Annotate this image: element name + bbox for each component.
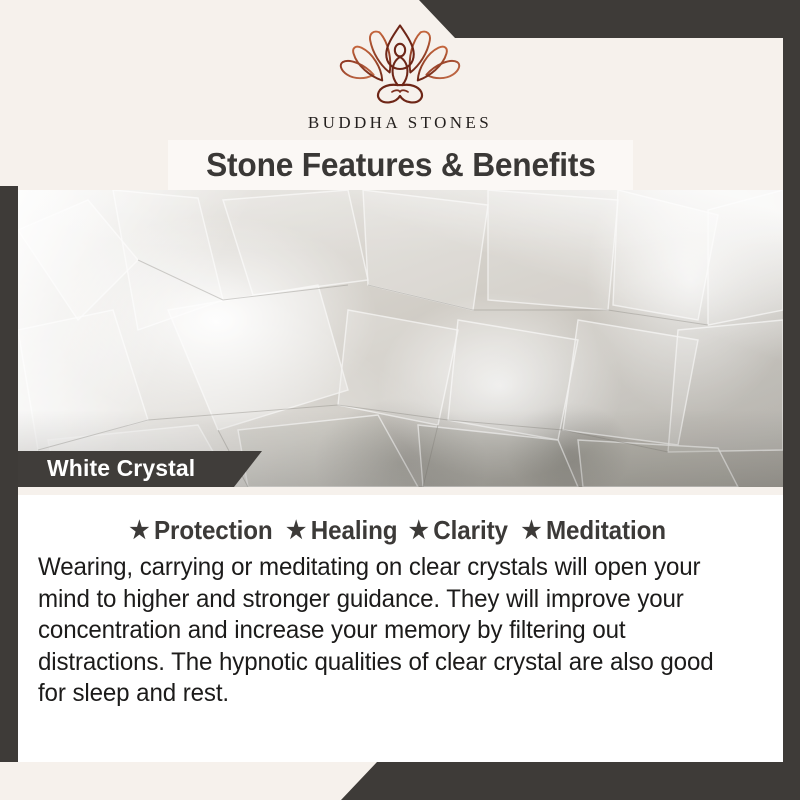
benefit-label: Clarity xyxy=(434,515,509,546)
hero-caption-banner: White Crystal xyxy=(18,451,262,487)
description-paragraph: Wearing, carrying or meditating on clear… xyxy=(38,552,732,710)
brand-name: BUDDHA STONES xyxy=(308,114,492,131)
card-content: BUDDHA STONES Stone Features & Benefits xyxy=(0,0,800,800)
benefit-label: Protection xyxy=(154,515,273,546)
benefit-item-meditation: ★ Meditation xyxy=(521,515,666,546)
page-title: Stone Features & Benefits xyxy=(206,146,596,184)
body-panel: ★ Protection ★ Healing ★ Clarity ★ Medit… xyxy=(18,495,783,762)
benefit-label: Meditation xyxy=(546,515,666,546)
benefit-label: Healing xyxy=(310,515,397,546)
left-frame-rail xyxy=(0,186,18,762)
star-icon: ★ xyxy=(409,519,429,543)
title-plaque: Stone Features & Benefits xyxy=(168,140,633,190)
star-icon: ★ xyxy=(521,519,541,543)
star-icon: ★ xyxy=(129,519,149,543)
hero-image xyxy=(18,190,783,487)
hero-caption-text: White Crystal xyxy=(18,457,195,480)
infographic-card: BUDDHA STONES Stone Features & Benefits xyxy=(0,0,800,800)
lotus-meditation-figure-icon xyxy=(334,22,466,108)
brand-header: BUDDHA STONES xyxy=(0,0,800,150)
star-icon: ★ xyxy=(286,519,306,543)
benefit-item-protection: ★ Protection xyxy=(129,515,272,546)
benefit-item-clarity: ★ Clarity xyxy=(409,515,508,546)
benefits-row: ★ Protection ★ Healing ★ Clarity ★ Medit… xyxy=(38,515,757,546)
benefit-item-healing: ★ Healing xyxy=(286,515,397,546)
hero-vignette xyxy=(18,190,783,487)
